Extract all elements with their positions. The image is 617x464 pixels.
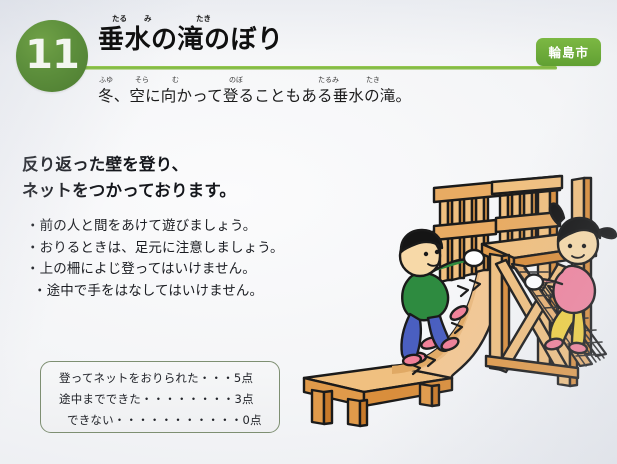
score-box: 登ってネットをおりられた・・・5点 途中までできた・・・・・・・・3点 できない… bbox=[40, 361, 280, 433]
page-subtitle: 冬、空に向かって登ることもある垂水の滝。 bbox=[98, 87, 568, 106]
city-badge: 輪島市 bbox=[536, 38, 601, 66]
rule-item: ・上の柵によじ登ってはいけません。 bbox=[26, 259, 326, 281]
rule-item: ・おりるときは、足元に注意しましょう。 bbox=[26, 238, 326, 260]
rules-list: ・前の人と間をあけて遊びましょう。 ・おりるときは、足元に注意しましょう。 ・上… bbox=[26, 216, 326, 302]
low-platform bbox=[304, 366, 452, 426]
score-line: できない・・・・・・・・・・・0点 bbox=[59, 410, 279, 431]
lead-line-2: ネットをつかっております。 bbox=[22, 178, 322, 204]
score-line: 途中までできた・・・・・・・・3点 bbox=[59, 389, 279, 410]
lead-statement: 反り返った壁を登り、 ネットをつかっております。 bbox=[22, 152, 322, 204]
subtitle-ruby-2: そら bbox=[135, 76, 149, 85]
title-ruby-1: たる bbox=[112, 14, 127, 23]
title-ruby-row: たる み たき bbox=[98, 14, 518, 25]
rule-item: ・途中で手をはなしてはいけません。 bbox=[26, 281, 326, 303]
poster-page: 11 輪島市 たる み たき 垂水の滝のぼり ふゆ そら む のぼ たるみ たき… bbox=[0, 0, 617, 464]
activity-number-circle: 11 bbox=[16, 20, 88, 92]
subtitle-ruby-4: のぼ bbox=[229, 76, 243, 85]
score-line: 登ってネットをおりられた・・・5点 bbox=[59, 368, 279, 389]
title-block: たる み たき 垂水の滝のぼり bbox=[98, 14, 518, 55]
activity-number: 11 bbox=[16, 20, 88, 92]
subtitle-ruby-row: ふゆ そら む のぼ たるみ たき bbox=[98, 76, 568, 87]
playground-climbing-wall-illustration bbox=[300, 168, 617, 464]
lead-line-1: 反り返った壁を登り、 bbox=[22, 152, 322, 178]
header-divider-rule bbox=[60, 66, 557, 70]
illustration-svg bbox=[300, 168, 617, 464]
subtitle-ruby-3: む bbox=[172, 76, 179, 85]
rule-item: ・前の人と間をあけて遊びましょう。 bbox=[26, 216, 326, 238]
subtitle-ruby-1: ふゆ bbox=[99, 76, 113, 85]
score-box-inner: 登ってネットをおりられた・・・5点 途中までできた・・・・・・・・3点 できない… bbox=[41, 362, 279, 431]
subtitle-block: ふゆ そら む のぼ たるみ たき 冬、空に向かって登ることもある垂水の滝。 bbox=[98, 76, 568, 106]
subtitle-ruby-6: たき bbox=[366, 76, 380, 85]
title-ruby-3: たき bbox=[196, 14, 211, 23]
title-ruby-2: み bbox=[144, 14, 152, 23]
subtitle-ruby-5: たるみ bbox=[318, 76, 339, 85]
page-title: 垂水の滝のぼり bbox=[98, 25, 518, 55]
